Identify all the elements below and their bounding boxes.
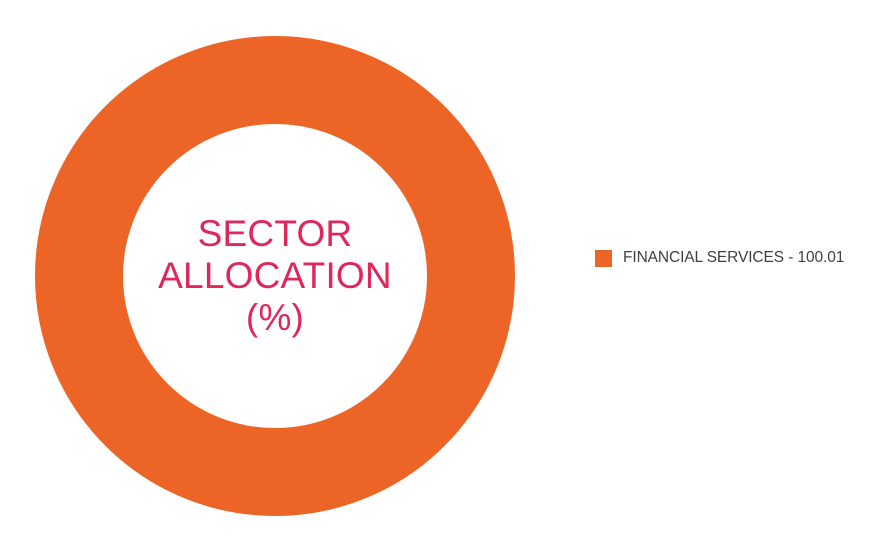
- legend-item-label: FINANCIAL SERVICES - 100.01: [623, 249, 844, 267]
- legend-swatch-icon: [595, 250, 612, 267]
- chart-legend: FINANCIAL SERVICES - 100.01: [595, 249, 844, 267]
- donut-svg: [34, 35, 516, 517]
- donut-chart: SECTOR ALLOCATION (%) FINANCIAL SERVICES…: [0, 0, 891, 559]
- donut-slice-financial-services[interactable]: [79, 80, 471, 472]
- legend-item-financial-services[interactable]: FINANCIAL SERVICES - 100.01: [595, 249, 844, 267]
- donut-graphic: [34, 35, 516, 517]
